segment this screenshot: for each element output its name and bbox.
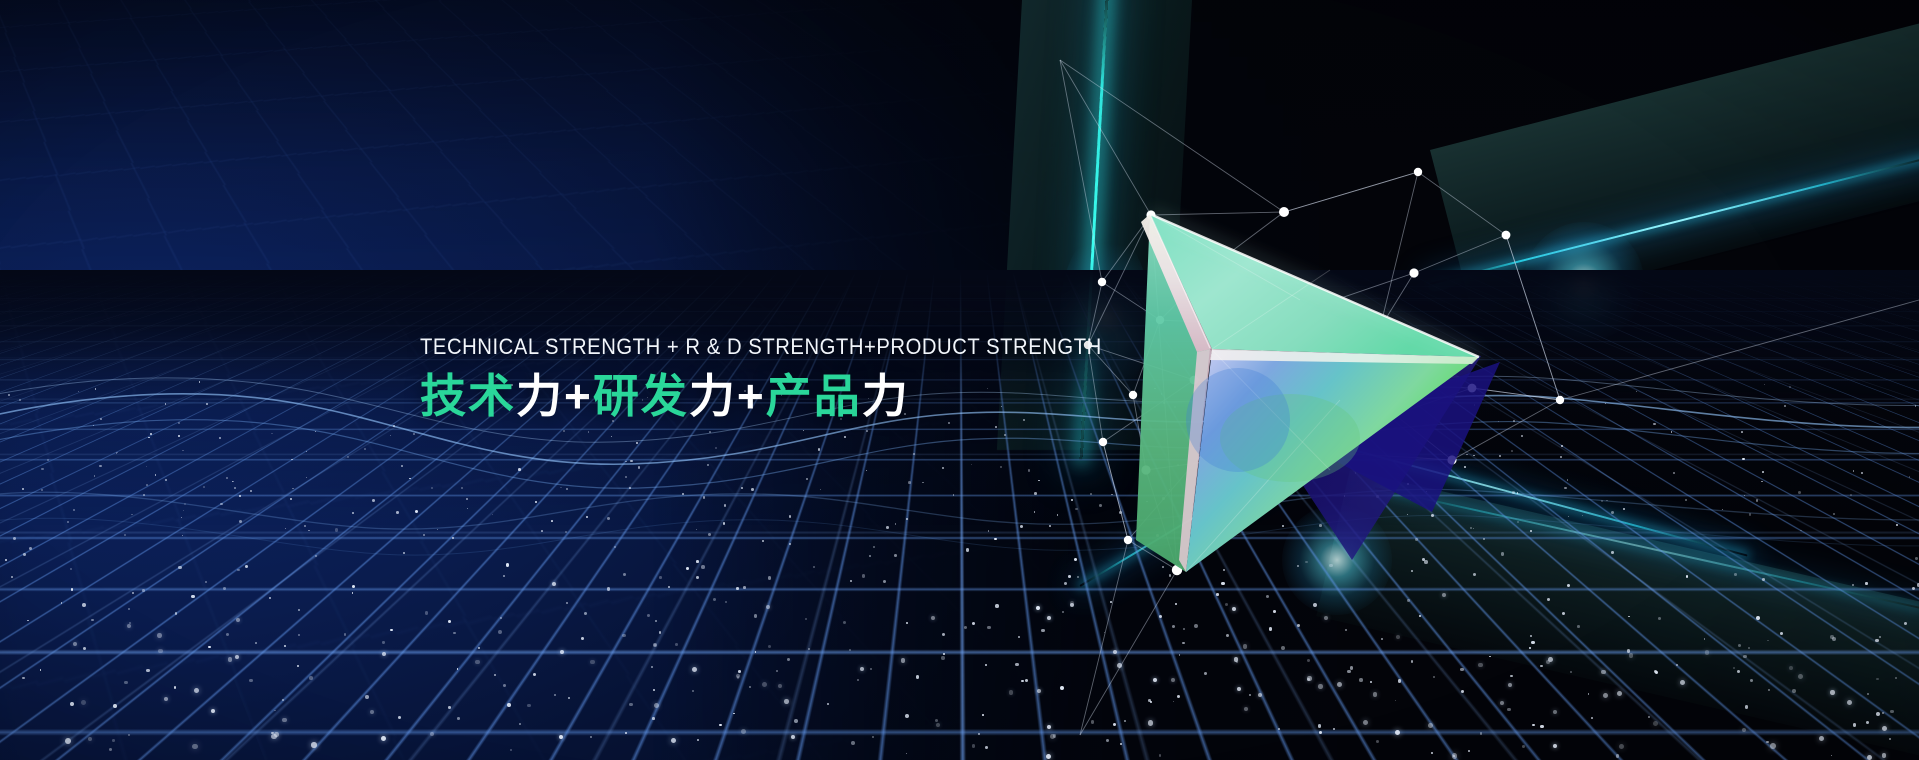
- hero-banner: TECHNICAL STRENGTH + R & D STRENGTH+PROD…: [0, 0, 1919, 760]
- vignette-overlay: [0, 0, 1919, 760]
